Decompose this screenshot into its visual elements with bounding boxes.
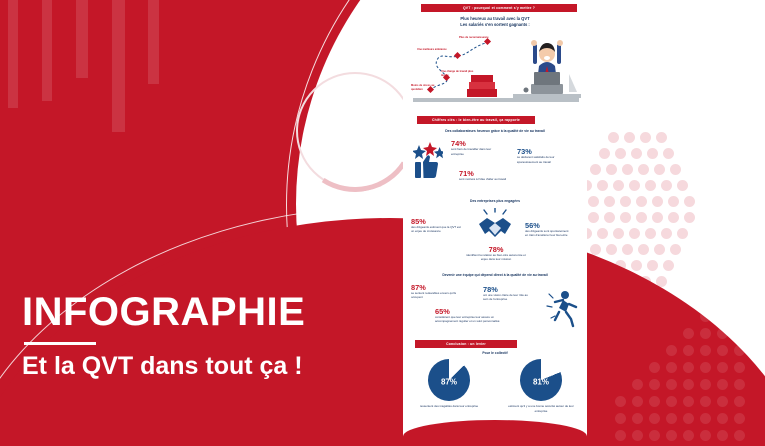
section-2-stat-1-caption: ont une vision claire de leur rôle au se… <box>483 293 531 301</box>
section-1-stat-2-caption: identifient la relation au bien-être aut… <box>465 253 527 261</box>
pie-item-1: 81% estiment qu'il y a une bonne sécurit… <box>506 359 576 412</box>
hero-illustration: Plus de reconnaissance Une meilleure amb… <box>407 30 583 112</box>
pie-chart-1-value: 81% <box>520 378 562 387</box>
infographic-top-banner: QVT : pourquoi et comment s'y mettre ? <box>421 4 577 12</box>
stats-banner: Chiffres clés : le bien-être au travail,… <box>417 116 535 124</box>
cheering-businessman-icon <box>513 32 581 102</box>
slide-canvas: INFOGRAPHIE Et la QVT dans tout ça ! QVT… <box>0 0 765 446</box>
section-1-stat-0-caption: des dirigeants estiment que la QVT est u… <box>411 225 463 233</box>
section-0-stat-2-caption: sont motivés à l'idée d'aller au travail <box>459 177 507 181</box>
section-0-stat-0-caption: sont fiers de travailler dans leur entre… <box>451 147 499 155</box>
hero-note-0: Plus de reconnaissance <box>459 36 491 39</box>
title-divider <box>24 342 96 345</box>
handshake-icon <box>473 208 517 244</box>
infographic-panel: QVT : pourquoi et comment s'y mettre ? P… <box>403 0 587 446</box>
thumbs-up-icon <box>413 142 443 178</box>
pie-chart-0: 87% <box>428 359 470 401</box>
decor-dot-grid <box>615 311 765 446</box>
section-2-stats: 87% se sentent redevables envers qu'ils … <box>409 282 581 338</box>
section-2-stat-2-value: 65% <box>435 308 511 315</box>
section-0-stat-1-caption: se déclarent satisfaits de leur épanouis… <box>517 155 565 163</box>
title-block: INFOGRAPHIE Et la QVT dans tout ça ! <box>22 292 352 379</box>
section-2-stat-1-value: 78% <box>483 286 531 293</box>
pie-chart-0-value: 87% <box>428 378 470 387</box>
infographic-footer-band <box>403 420 587 446</box>
pie-chart-0-caption: ressentent des inégalités dans leur entr… <box>414 404 484 408</box>
page-subtitle: Et la QVT dans tout ça ! <box>22 354 352 379</box>
section-1-stat-0-value: 85% <box>411 218 463 225</box>
pie-chart-group: 87% ressentent des inégalités dans leur … <box>403 359 587 412</box>
section-0-stat-1-value: 73% <box>517 148 565 155</box>
section-0-title: Des collaborateurs heureux grâce à la qu… <box>409 129 581 134</box>
section-0-stat-2-value: 71% <box>459 170 507 177</box>
pie-chart-1: 81% <box>520 359 562 401</box>
section-1-stat-2-value: 78% <box>465 246 527 253</box>
pie-item-0: 87% ressentent des inégalités dans leur … <box>414 359 484 412</box>
conclusion-banner: Conclusion : un levier <box>415 340 517 348</box>
section-1-title: Des entreprises plus engagées <box>409 199 581 204</box>
section-2-stat-0-value: 87% <box>411 284 459 291</box>
hero-headline-line1: Plus heureux au travail avec la QVT <box>460 16 529 21</box>
running-person-icon <box>545 288 579 328</box>
decor-hanging-bars <box>0 0 200 180</box>
hero-headline-line2: Les salariés s'en sortent gagnants : <box>460 22 529 27</box>
conclusion-title: Pour le collectif <box>409 351 581 356</box>
section-2-title: Devenir une équipe qui dépend direct à l… <box>409 273 581 278</box>
hero-headline: Plus heureux au travail avec la QVT Les … <box>411 16 579 28</box>
section-0-stat-0-value: 74% <box>451 140 499 147</box>
pie-chart-1-caption: estiment qu'il y a une bonne sécurité au… <box>506 404 576 412</box>
hero-note-3: Moins de stress au quotidien <box>411 84 439 91</box>
section-1-stat-1-caption: des dirigeants sont spontanément en trai… <box>525 229 571 237</box>
section-0-stats: 74% sont fiers de travailler dans leur e… <box>409 138 581 196</box>
section-1-stats: 85% des dirigeants estiment que la QVT e… <box>409 208 581 270</box>
book-stack-icon <box>465 73 499 99</box>
section-2-stat-2-caption: considèrent que leur entreprise leur ass… <box>435 315 511 323</box>
section-2-stat-0-caption: se sentent redevables envers qu'ils occu… <box>411 291 459 299</box>
hero-note-1: Une meilleure ambiance <box>417 48 447 51</box>
page-title: INFOGRAPHIE <box>22 292 352 332</box>
section-1-stat-1-value: 56% <box>525 222 571 229</box>
